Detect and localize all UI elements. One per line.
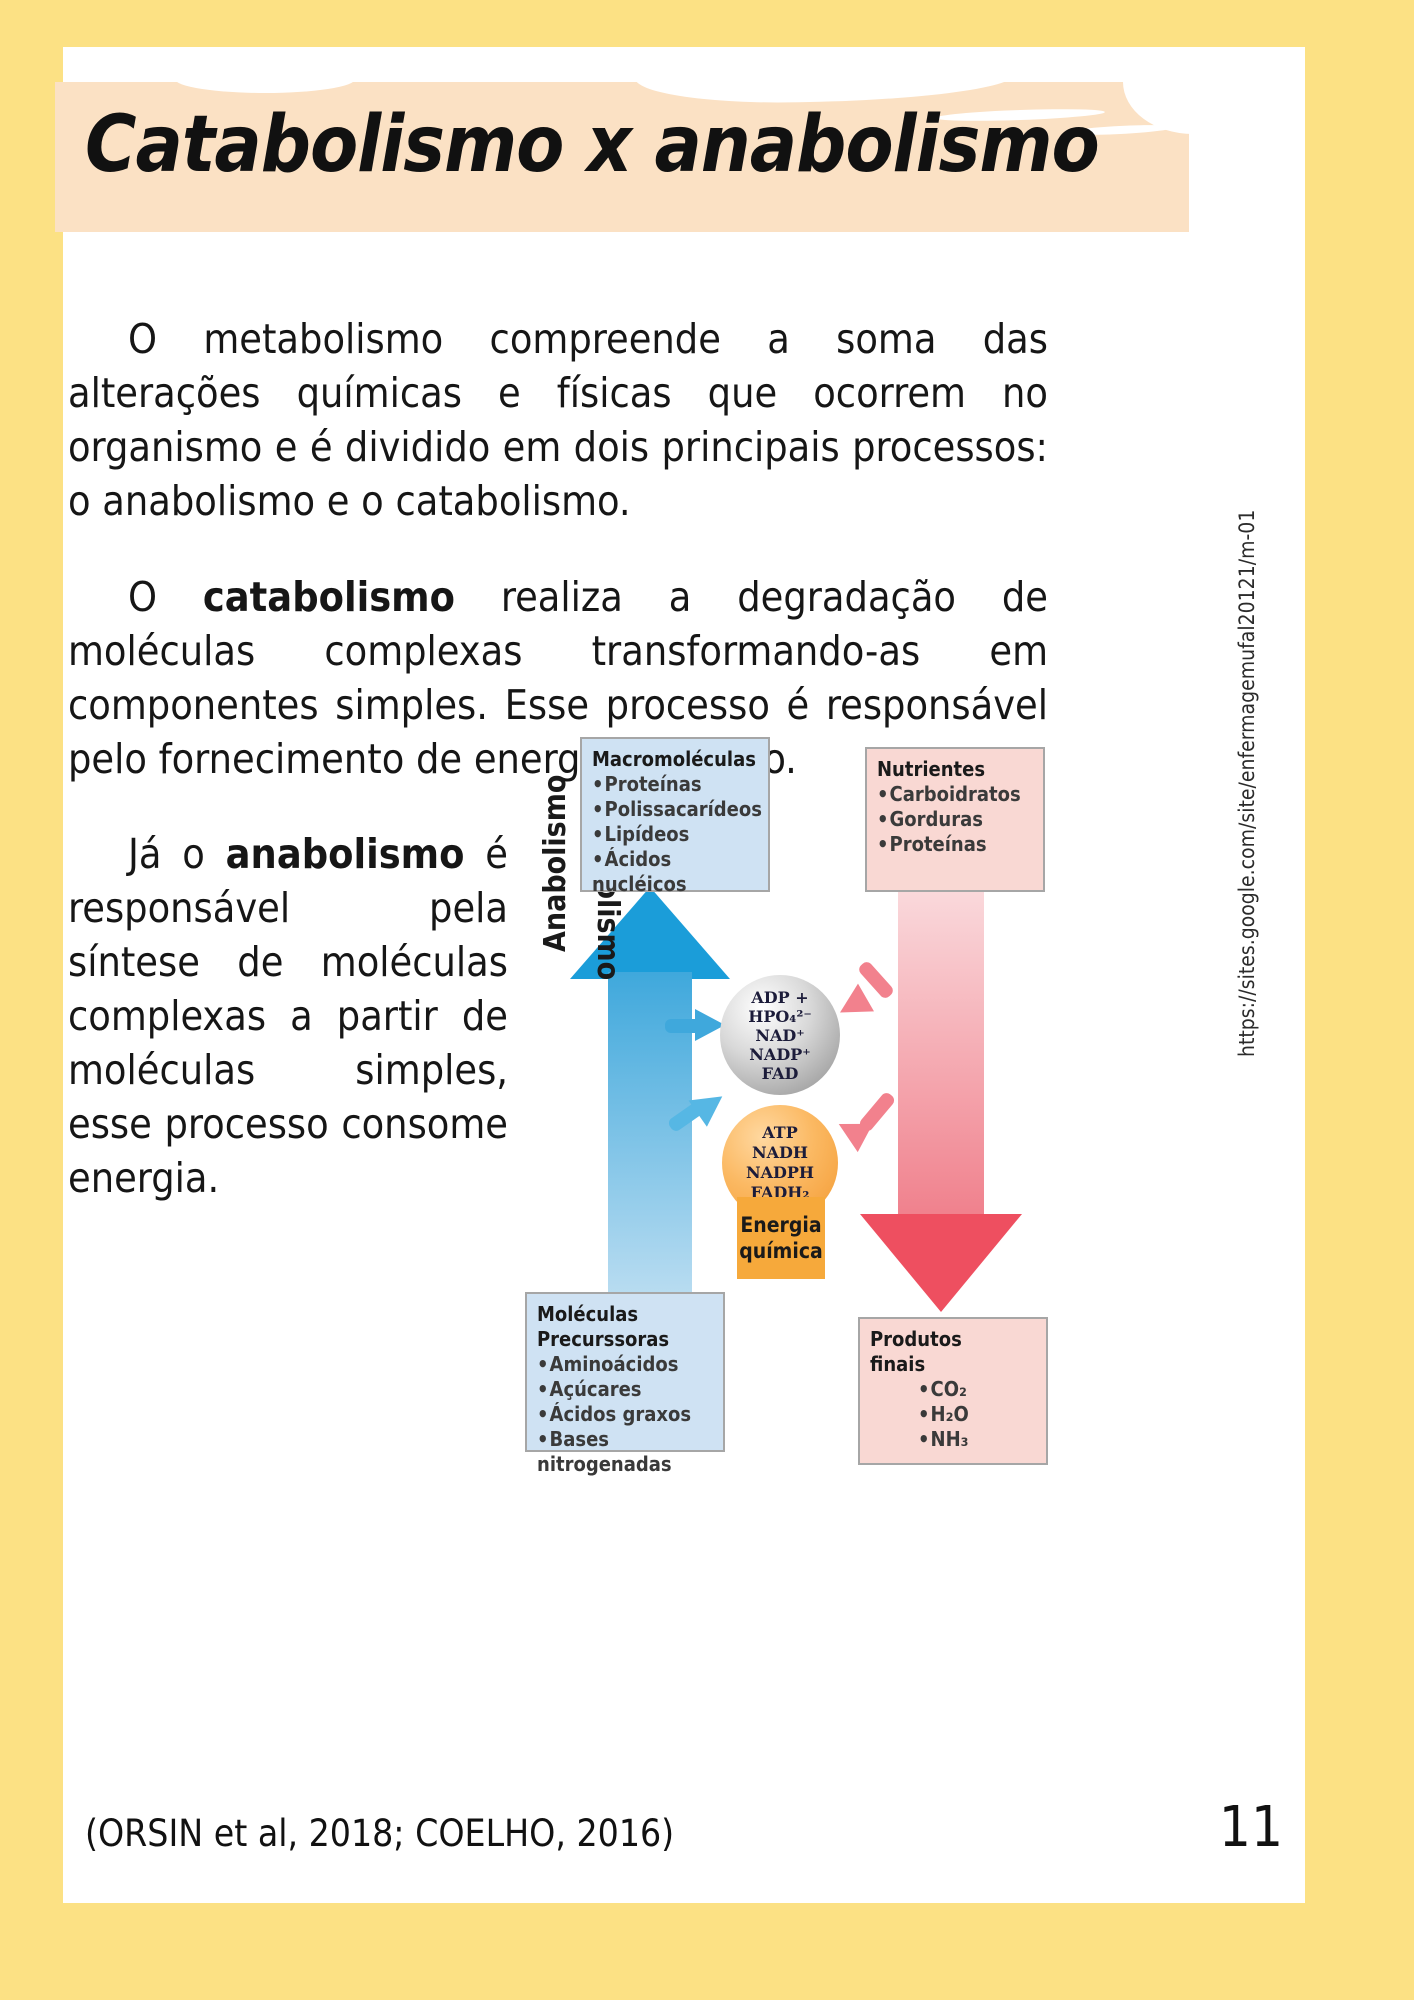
nutrients-box: Nutrientes Carboidratos Gorduras Proteín… — [865, 747, 1045, 892]
gray-sphere-line-3: NADP⁺ — [720, 1045, 840, 1064]
list-item: Carboidratos — [877, 782, 1037, 807]
paragraph-3-prefix: Já o — [128, 830, 226, 878]
macromolecules-box: Macromoléculas Proteínas Polissacarídeos… — [580, 737, 770, 892]
list-item: Gorduras — [877, 807, 1037, 832]
list-item: Aminoácidos — [537, 1352, 717, 1377]
paragraph-1-text: O metabolismo compreende a soma das alte… — [68, 315, 1048, 525]
precursor-molecules-box: Moléculas Precurssoras Aminoácidos Açúca… — [525, 1292, 725, 1452]
page-number: 11 — [1219, 1795, 1283, 1860]
list-item: Proteínas — [592, 772, 762, 797]
gray-sphere-line-1: ADP + HPO₄²⁻ — [720, 988, 840, 1026]
list-item: Polissacarídeos — [592, 797, 762, 822]
list-item: H₂O — [918, 1402, 1040, 1427]
slide-page: Catabolismo x anabolismo O metabolismo c… — [55, 47, 1305, 1903]
orange-sphere-line-1: ATP — [746, 1123, 814, 1143]
orange-sphere-line-3: NADPH — [746, 1163, 814, 1183]
energy-line-2: química — [739, 1238, 823, 1264]
list-item: NH₃ — [918, 1427, 1040, 1452]
paragraph-2-prefix: O — [128, 573, 203, 621]
energy-box-text: Energia química — [739, 1212, 823, 1264]
paragraph-3-bold-term: anabolismo — [226, 830, 465, 878]
list-item: Ácidos graxos — [537, 1402, 717, 1427]
catabolism-arrow-shaft — [898, 889, 984, 1219]
gray-sphere-line-2: NAD⁺ — [720, 1026, 840, 1045]
gray-sphere-line-4: FAD — [720, 1064, 840, 1083]
gray-sphere-text: ADP + HPO₄²⁻ NAD⁺ NADP⁺ FAD — [720, 988, 840, 1083]
catabolism-arrow-head — [860, 1214, 1022, 1312]
energy-line-1: Energia — [739, 1212, 823, 1238]
orange-sphere-line-2: NADH — [746, 1143, 814, 1163]
precursors-list: Aminoácidos Açúcares Ácidos graxos Bases… — [537, 1352, 717, 1477]
products-heading-line1: Produtos — [870, 1327, 1040, 1352]
banner-brush-notch-1 — [175, 79, 355, 93]
list-item: Bases nitrogenadas — [537, 1427, 717, 1477]
list-item: Proteínas — [877, 832, 1037, 857]
precursors-heading-line2: Precurssoras — [537, 1327, 717, 1352]
anabolism-label: Anabolismo — [538, 775, 573, 952]
macromolecules-heading: Macromoléculas — [592, 747, 762, 772]
products-list: CO₂ H₂O NH₃ — [918, 1377, 1040, 1452]
macromolecules-list: Proteínas Polissacarídeos Lipídeos Ácido… — [592, 772, 762, 897]
products-heading-line2: finais — [870, 1352, 1040, 1377]
orange-sphere-text: ATP NADH NADPH FADH₂ — [746, 1123, 814, 1203]
paragraph-metabolism: O metabolismo compreende a soma das alte… — [68, 312, 1048, 528]
precursors-heading-line1: Moléculas — [537, 1302, 717, 1327]
list-item: Ácidos nucléicos — [592, 847, 762, 897]
nutrients-list: Carboidratos Gorduras Proteínas — [877, 782, 1037, 857]
list-item: Lipídeos — [592, 822, 762, 847]
citation-text: (ORSIN et al, 2018; COELHO, 2016) — [85, 1812, 674, 1855]
oxidized-cofactors-sphere: ADP + HPO₄²⁻ NAD⁺ NADP⁺ FAD — [720, 975, 840, 1095]
list-item: CO₂ — [918, 1377, 1040, 1402]
chemical-energy-box: Energia química — [737, 1197, 825, 1279]
nutrients-heading: Nutrientes — [877, 757, 1037, 782]
left-accent-stripe — [55, 47, 63, 1903]
paragraph-2-bold-term: catabolismo — [203, 573, 455, 621]
final-products-box: Produtos finais CO₂ H₂O NH₃ — [858, 1317, 1048, 1465]
paragraph-anabolism: Já o anabolismo é responsável pela sínte… — [68, 827, 508, 1205]
metabolism-diagram: Anabolismo Catabolismo Macromoléculas Pr… — [525, 737, 1025, 1457]
paragraph-3-suffix: é responsável pela síntese de moléculas … — [68, 830, 508, 1202]
list-item: Açúcares — [537, 1377, 717, 1402]
page-title: Catabolismo x anabolismo — [85, 100, 1175, 190]
title-banner: Catabolismo x anabolismo — [55, 82, 1189, 232]
figure-source-url: https://sites.google.com/site/enfermagem… — [1235, 510, 1259, 1057]
